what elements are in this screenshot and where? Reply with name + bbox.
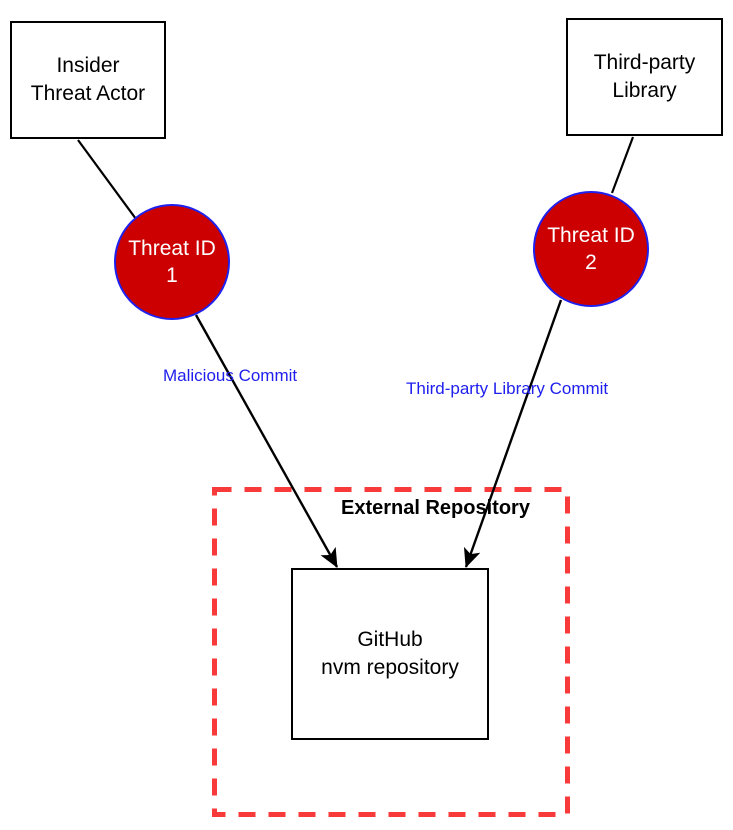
external-repository-group-title-text: External Repository: [341, 497, 530, 519]
node-threat-id-2-label: Threat ID 2: [547, 222, 635, 277]
edge-insider-to-threat1: [78, 140, 136, 219]
node-insider-threat-actor-label: Insider Threat Actor: [31, 52, 145, 107]
threat-flow-diagram: Insider Threat Actor Third-party Library…: [0, 0, 733, 830]
node-insider-threat-actor[interactable]: Insider Threat Actor: [10, 21, 166, 139]
node-threat-id-1-label: Threat ID 1: [128, 235, 216, 290]
edge-library-to-threat2: [612, 137, 633, 193]
edge-label-malicious-commit: Malicious Commit: [163, 366, 297, 386]
external-repository-group-title: External Repository: [341, 497, 530, 520]
node-threat-id-1[interactable]: Threat ID 1: [114, 204, 230, 320]
node-github-nvm-repository[interactable]: GitHub nvm repository: [291, 568, 489, 740]
edge-label-third-party-library-commit: Third-party Library Commit: [406, 379, 608, 399]
node-third-party-library-label: Third-party Library: [594, 49, 696, 104]
node-third-party-library[interactable]: Third-party Library: [566, 18, 723, 136]
edge-threat1-to-repository: [196, 315, 337, 567]
node-threat-id-2[interactable]: Threat ID 2: [533, 191, 649, 307]
node-github-nvm-repository-label: GitHub nvm repository: [321, 626, 459, 681]
edge-label-third-party-library-commit-text: Third-party Library Commit: [406, 379, 608, 398]
edge-threat2-to-repository: [466, 300, 561, 567]
edge-label-malicious-commit-text: Malicious Commit: [163, 366, 297, 385]
